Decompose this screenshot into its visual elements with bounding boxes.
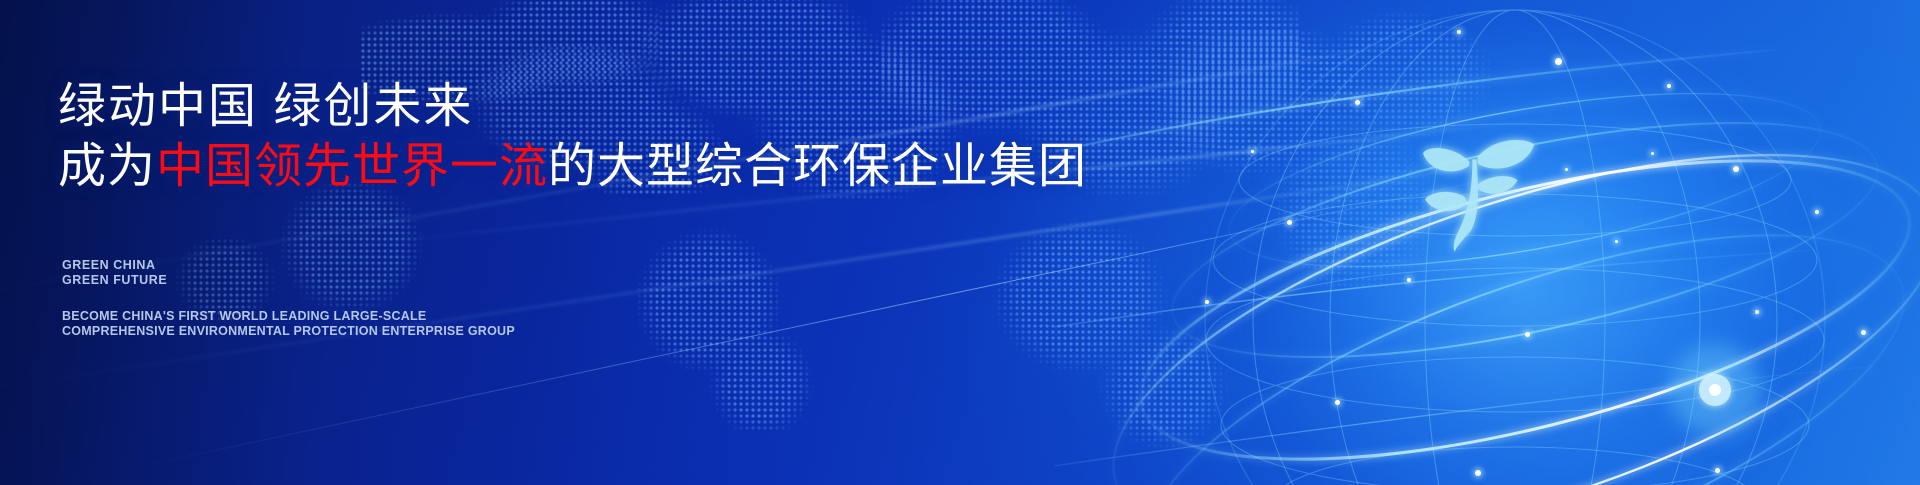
headline-line-2-highlight: 中国领先世界一流 (156, 140, 548, 193)
wireframe-globe (1055, 0, 1920, 485)
subline-line-1: BECOME CHINA'S FIRST WORLD LEADING LARGE… (62, 309, 515, 324)
headline-line-2-prefix: 成为 (58, 140, 156, 193)
globe-sparkles (1055, 0, 1920, 485)
headline-line-1: 绿动中国 绿创未来 (58, 77, 1087, 137)
headline: 绿动中国 绿创未来 成为中国领先世界一流的大型综合环保企业集团 (58, 77, 1087, 197)
globe-sphere (1205, 10, 1825, 485)
headline-line-2-suffix: 的大型综合环保企业集团 (548, 140, 1087, 193)
subline-line-2: COMPREHENSIVE ENVIRONMENTAL PROTECTION E… (62, 324, 515, 339)
globe-meridians (1205, 10, 1825, 485)
globe-glow (1195, 10, 1835, 485)
tagline: GREEN CHINA GREEN FUTURE (62, 258, 167, 288)
globe-flare (1669, 344, 1761, 436)
globe-svg (1055, 0, 1920, 485)
tagline-line-1: GREEN CHINA (62, 258, 167, 273)
worldmap-dot-patch (1300, 0, 1560, 170)
headline-line-2: 成为中国领先世界一流的大型综合环保企业集团 (58, 137, 1087, 197)
worldmap-dot-patch (1150, 30, 1480, 290)
globe-light-trails (1055, 50, 1875, 480)
banner-copy: 绿动中国 绿创未来 成为中国领先世界一流的大型综合环保企业集团 GREEN CH… (58, 0, 1058, 485)
hero-banner: 绿动中国 绿创未来 成为中国领先世界一流的大型综合环保企业集团 GREEN CH… (0, 0, 1920, 485)
subline: BECOME CHINA'S FIRST WORLD LEADING LARGE… (62, 309, 515, 338)
sprout-leaf-icon (1423, 140, 1534, 252)
tagline-line-2: GREEN FUTURE (62, 273, 167, 288)
globe-orbit-rings (1070, 59, 1920, 485)
globe-latitudes (1206, 124, 1824, 485)
